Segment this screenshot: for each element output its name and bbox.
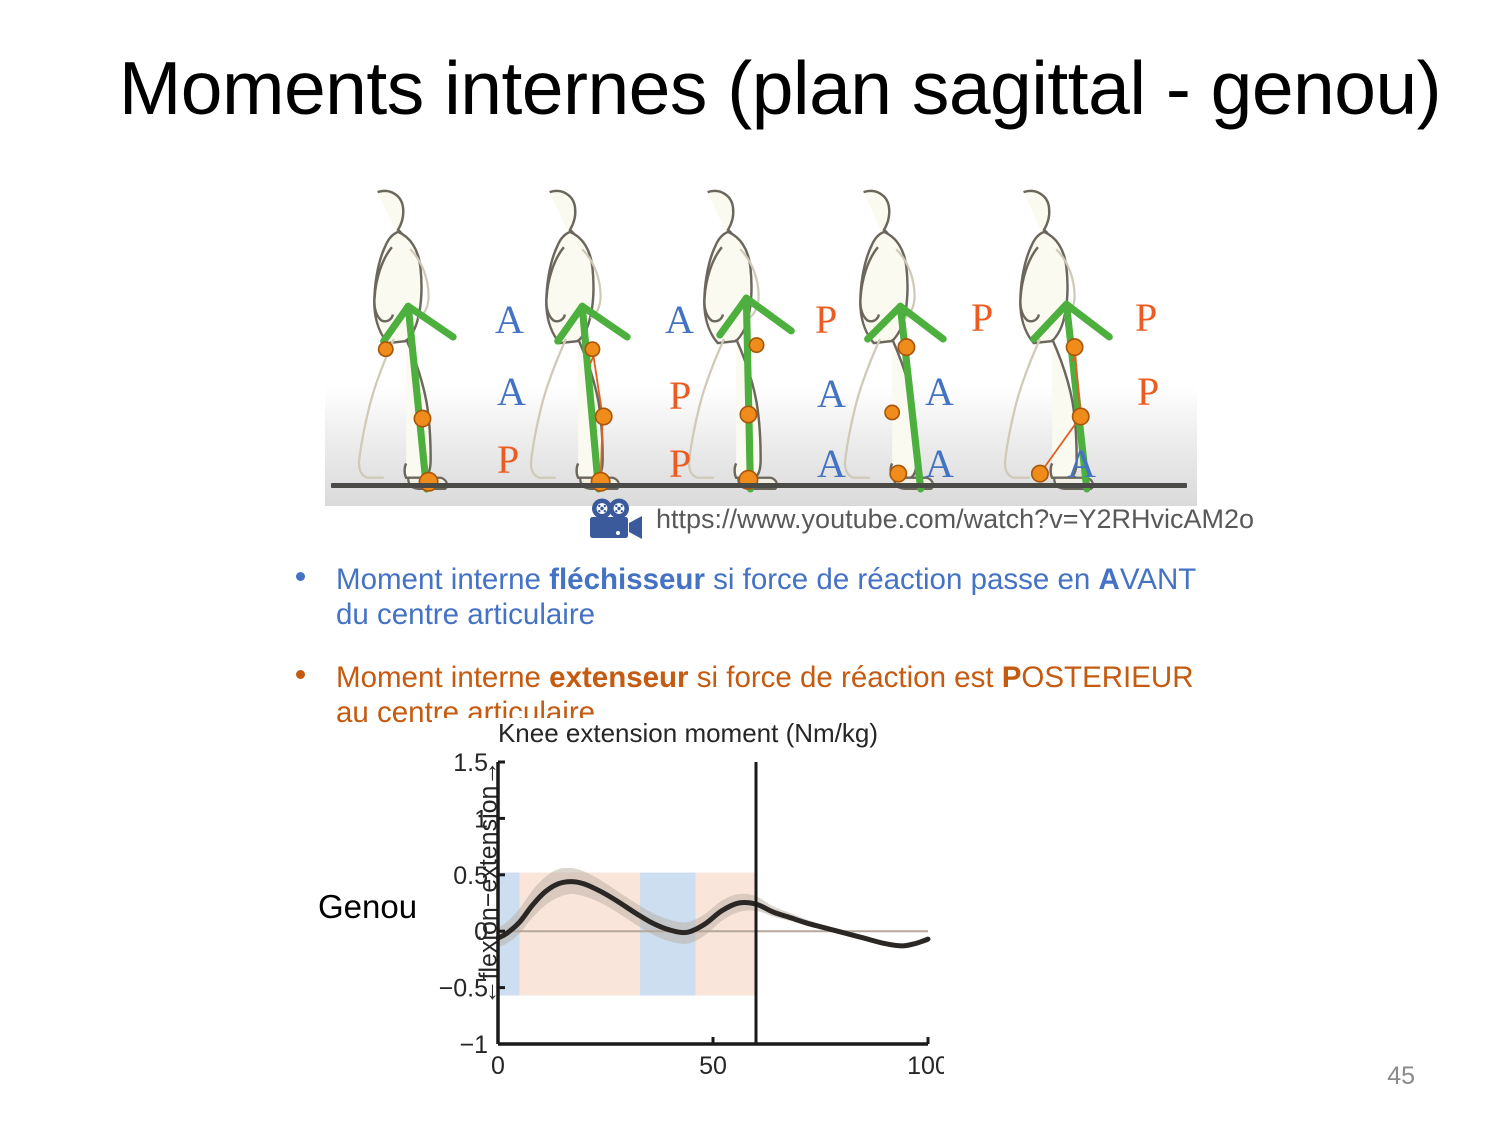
ap-label-f3-knee: A xyxy=(817,374,846,414)
ap-label-f1-hip: A xyxy=(495,300,524,340)
y-tick-label: −1 xyxy=(459,1031,488,1059)
y-tick-label: 1.5 xyxy=(453,749,488,777)
ap-label-f3-hip: P xyxy=(815,300,837,340)
page-title: Moments internes (plan sagittal - genou) xyxy=(110,48,1450,129)
ap-label-f3-ankle: A xyxy=(817,444,846,484)
y-tick-label: 1 xyxy=(474,805,488,833)
ap-label-f4-hip: P xyxy=(971,298,993,338)
ap-label-f5-knee: P xyxy=(1137,372,1159,412)
bullet-text-flexion: Moment interne fléchisseur si force de r… xyxy=(336,563,1196,631)
ap-label-f5-ankle: A xyxy=(1067,444,1096,484)
video-link-caption[interactable]: https://www.youtube.com/watch?v=Y2RHvicA… xyxy=(585,497,1254,541)
bullet-dot xyxy=(296,572,305,581)
x-tick-label: 100 xyxy=(907,1052,944,1080)
ap-label-f1-knee: A xyxy=(497,372,526,412)
chart-side-label: Genou xyxy=(318,888,417,926)
ap-label-f4-ankle: A xyxy=(925,444,954,484)
ap-label-f2-ankle: P xyxy=(669,444,691,484)
ground-line xyxy=(331,483,1187,488)
bullet-item-flexion: Moment interne fléchisseur si force de r… xyxy=(288,563,1208,632)
ap-label-f2-knee: P xyxy=(669,376,691,416)
y-tick-label: 0 xyxy=(474,918,488,946)
x-tick-label: 0 xyxy=(491,1052,505,1080)
slide: Moments internes (plan sagittal - genou) xyxy=(0,0,1500,1125)
movie-camera-icon xyxy=(585,497,647,541)
ap-label-f1-ankle: P xyxy=(497,440,519,480)
chart-plot-svg: −1−0.500.511.5050100 xyxy=(432,718,944,1090)
y-tick-label: −0.5 xyxy=(439,975,488,1003)
video-url-text[interactable]: https://www.youtube.com/watch?v=Y2RHvicA… xyxy=(656,504,1254,535)
page-number: 45 xyxy=(1387,1062,1415,1091)
ap-label-f2-hip: A xyxy=(665,300,694,340)
knee-moment-chart: Knee extension moment (Nm/kg) ←flexion−e… xyxy=(432,718,944,1090)
ap-label-f5-hip: P xyxy=(1135,298,1157,338)
x-tick-label: 50 xyxy=(699,1052,727,1080)
bullet-list: Moment interne fléchisseur si force de r… xyxy=(288,563,1208,730)
gait-cycle-illustration: A A P A P P P A A P A A P P A xyxy=(325,172,1197,506)
ap-label-f4-knee: A xyxy=(925,372,954,412)
y-tick-label: 0.5 xyxy=(453,862,488,890)
bullet-dot xyxy=(296,670,305,679)
